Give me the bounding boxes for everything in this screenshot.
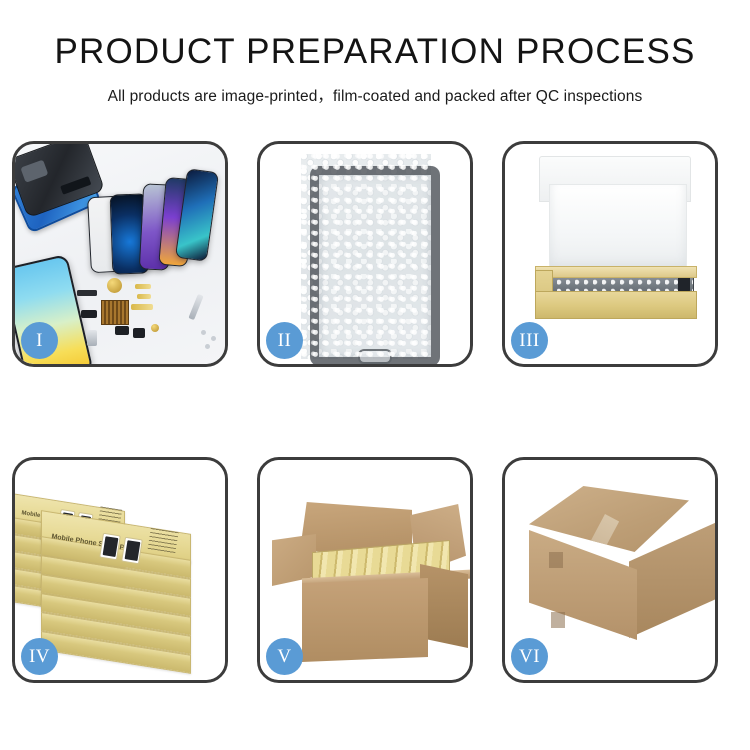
component-vibrator — [133, 328, 145, 338]
component-motor — [151, 324, 159, 332]
step-badge-1: I — [21, 322, 58, 359]
infographic-page: PRODUCT PREPARATION PROCESS All products… — [0, 0, 750, 750]
component-flex-cable-1 — [135, 284, 151, 289]
box-front-wall — [535, 291, 697, 319]
box-artwork-device-f2 — [121, 537, 143, 565]
step-badge-4: IV — [21, 638, 58, 675]
carton-notch-bottom — [551, 612, 565, 628]
process-step-3: III — [502, 141, 718, 367]
component-logic-board — [101, 300, 129, 325]
box-artwork-device-f1 — [99, 533, 121, 561]
process-step-5: V — [257, 457, 473, 683]
box-artwork-spec-front — [147, 528, 178, 554]
process-step-grid: I II III — [12, 141, 738, 683]
step-badge-3: III — [511, 322, 548, 359]
component-screw-1 — [201, 330, 206, 335]
step-badge-5: V — [266, 638, 303, 675]
page-subtitle: All products are image-printed，film-coat… — [0, 84, 750, 106]
process-step-6: VI — [502, 457, 718, 683]
carton-front-face — [302, 578, 428, 662]
foam-padding — [549, 184, 687, 272]
component-tool-spudger — [188, 294, 203, 320]
process-step-4: Mobile Phone Spare Parts Mobile Phone Sp… — [12, 457, 228, 683]
carton-notch-top — [549, 552, 563, 568]
page-title: PRODUCT PREPARATION PROCESS — [0, 34, 750, 71]
header: PRODUCT PREPARATION PROCESS All products… — [0, 0, 750, 106]
step-badge-6: VI — [511, 638, 548, 675]
box-inner-lip — [535, 266, 697, 278]
component-screw-3 — [205, 344, 210, 349]
component-flex-cable-2 — [137, 294, 151, 299]
component-camera — [81, 310, 97, 318]
component-screw-2 — [211, 336, 216, 341]
component-flex-cable-3 — [131, 304, 153, 310]
component-speaker — [107, 278, 122, 293]
component-button — [115, 326, 129, 335]
component-sim-tray — [87, 330, 97, 346]
phone-front-glass — [310, 166, 440, 364]
process-step-2: II — [257, 141, 473, 367]
process-step-1: I — [12, 141, 228, 367]
component-connector — [77, 290, 97, 296]
step-badge-2: II — [266, 322, 303, 359]
